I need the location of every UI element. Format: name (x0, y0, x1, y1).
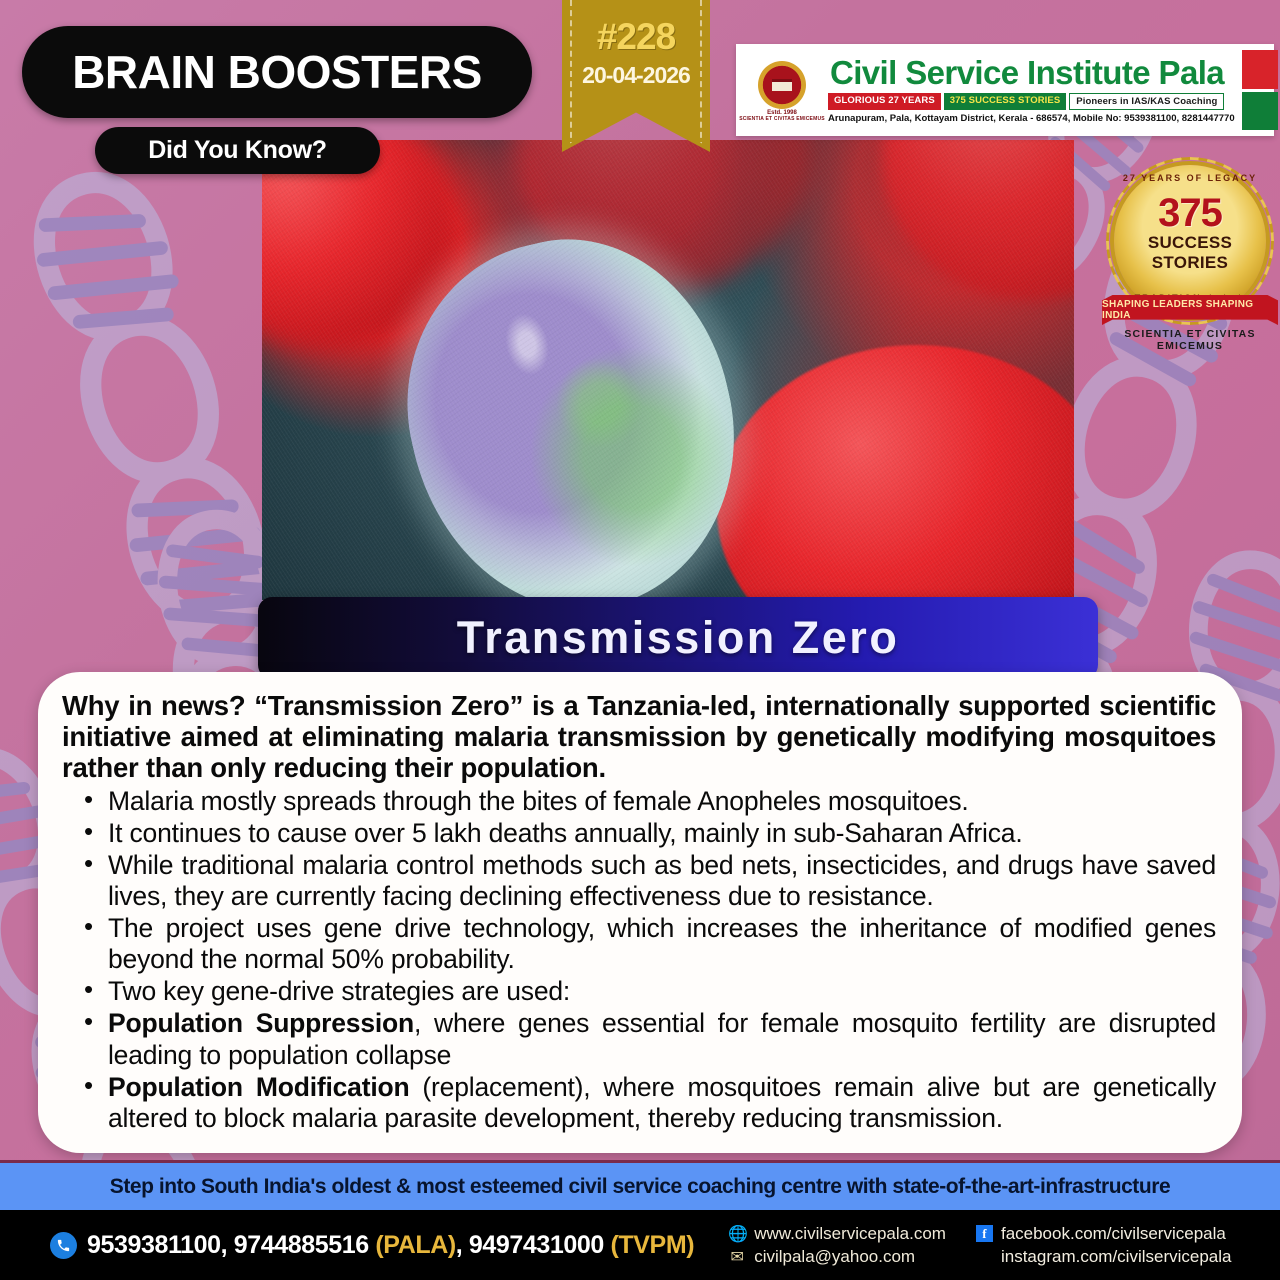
badge-success-stories: 375 SUCCESS STORIES (944, 93, 1067, 110)
bullet-text: Malaria mostly spreads through the bites… (108, 786, 969, 816)
poster-root: BRAIN BOOSTERS Did You Know? #228 20-04-… (0, 0, 1280, 1280)
brain-boosters-title-pill: BRAIN BOOSTERS (22, 26, 532, 118)
seal-disc: 27 YEARS OF LEGACY 375 SUCCESS STORIES T… (1114, 165, 1266, 317)
bullet-lead-term: Population Modification (108, 1072, 409, 1102)
topic-title-banner: Transmission Zero (258, 597, 1098, 679)
phone-tag-tvpm: (TVPM) (610, 1231, 694, 1259)
issue-number: #228 (562, 16, 710, 58)
website-label: www.civilservicepala.com (754, 1224, 946, 1244)
email-label: civilpala@yahoo.com (754, 1247, 915, 1267)
phone-icon (50, 1232, 77, 1259)
promo-strip-label: Step into South India's oldest & most es… (110, 1175, 1170, 1199)
seal-line-one: SUCCESS (1114, 233, 1266, 253)
facebook-label: facebook.com/civilservicepala (1001, 1224, 1226, 1244)
emblem-seal-icon (758, 61, 806, 109)
contact-footer: 9539381100, 9744885516 (PALA), 949743100… (0, 1210, 1280, 1280)
brain-boosters-label: BRAIN BOOSTERS (72, 45, 482, 99)
bullet-lead-term: Population Suppression (108, 1008, 414, 1038)
fact-bullet-item: While traditional malaria control method… (62, 850, 1216, 912)
phone-tag-pala: (PALA) (375, 1231, 455, 1259)
institute-logo-bar: Estd. 1998 SCIENTIA ET CIVITAS EMICEMUS … (736, 44, 1274, 136)
facebook-icon: f (976, 1225, 993, 1242)
bullet-text: While traditional malaria control method… (108, 850, 1216, 911)
logo-square-marks (1237, 44, 1280, 136)
photo-texture (262, 140, 1074, 600)
seal-line-two: STORIES (1114, 253, 1266, 273)
phone-numbers: 9539381100, 9744885516 (PALA), 949743100… (87, 1231, 694, 1260)
phone-plain-2: , 9497431000 (456, 1231, 611, 1259)
seal-banner-label: SHAPING LEADERS SHAPING INDIA (1102, 299, 1278, 321)
fact-bullet-item: It continues to cause over 5 lakh deaths… (62, 818, 1216, 849)
issue-ribbon: #228 20-04-2026 (562, 0, 710, 152)
phone-plain-1: 9539381100, 9744885516 (87, 1231, 375, 1259)
website-row[interactable]: 🌐 www.civilservicepala.com (728, 1224, 946, 1244)
red-square-icon (1242, 50, 1279, 89)
success-stories-seal: 27 YEARS OF LEGACY 375 SUCCESS STORIES T… (1100, 165, 1280, 350)
bullet-text: Two key gene-drive strategies are used: (108, 976, 570, 1006)
emblem-motto-label: SCIENTIA ET CIVITAS EMICEMUS (739, 116, 825, 122)
why-in-news-paragraph: Why in news? “Transmission Zero” is a Ta… (62, 690, 1216, 784)
seal-arc-top-label: 27 YEARS OF LEGACY (1114, 173, 1266, 183)
web-block: 🌐 www.civilservicepala.com ✉ civilpala@y… (728, 1224, 946, 1267)
globe-icon: 🌐 (728, 1224, 746, 1244)
facebook-row[interactable]: f facebook.com/civilservicepala (976, 1224, 1232, 1244)
seal-number: 375 (1114, 191, 1266, 236)
seal-motto-label: SCIENTIA ET CIVITAS EMICEMUS (1100, 328, 1280, 352)
badge-pioneers: Pioneers in IAS/KAS Coaching (1069, 93, 1224, 110)
content-card: Why in news? “Transmission Zero” is a Ta… (38, 672, 1242, 1153)
logo-text-block: Civil Service Institute Pala GLORIOUS 27… (828, 44, 1237, 136)
topic-title: Transmission Zero (457, 612, 900, 664)
institute-address: Arunapuram, Pala, Kottayam District, Ker… (828, 113, 1235, 124)
issue-date: 20-04-2026 (562, 62, 710, 89)
fact-bullet-list: Malaria mostly spreads through the bites… (62, 786, 1216, 1134)
logo-badge-row: GLORIOUS 27 YEARS 375 SUCCESS STORIES Pi… (828, 93, 1235, 110)
phone-block: 9539381100, 9744885516 (PALA), 949743100… (0, 1231, 694, 1260)
fact-bullet-item: Two key gene-drive strategies are used: (62, 976, 1216, 1007)
fact-bullet-item: Malaria mostly spreads through the bites… (62, 786, 1216, 817)
did-you-know-pill: Did You Know? (95, 127, 380, 174)
green-square-icon (1242, 92, 1279, 131)
fact-bullet-item: The project uses gene drive technology, … (62, 913, 1216, 975)
badge-glorious-years: GLORIOUS 27 YEARS (828, 93, 941, 110)
instagram-row[interactable]: instagram.com/civilservicepala (976, 1247, 1232, 1267)
instagram-label: instagram.com/civilservicepala (1001, 1247, 1232, 1267)
fact-bullet-item: Population Modification (replacement), w… (62, 1072, 1216, 1134)
institute-name: Civil Service Institute Pala (828, 56, 1235, 89)
did-you-know-label: Did You Know? (148, 136, 327, 165)
email-row[interactable]: ✉ civilpala@yahoo.com (728, 1247, 946, 1267)
social-block: f facebook.com/civilservicepala instagra… (976, 1224, 1232, 1267)
promo-strip: Step into South India's oldest & most es… (0, 1160, 1280, 1210)
open-book-icon (772, 79, 792, 91)
bullet-text: The project uses gene drive technology, … (108, 913, 1216, 974)
envelope-icon: ✉ (728, 1247, 746, 1267)
institute-emblem: Estd. 1998 SCIENTIA ET CIVITAS EMICEMUS (736, 44, 828, 136)
malaria-parasite-photo (262, 140, 1074, 600)
fact-bullet-item: Population Suppression, where genes esse… (62, 1008, 1216, 1070)
bullet-text: It continues to cause over 5 lakh deaths… (108, 818, 1023, 848)
